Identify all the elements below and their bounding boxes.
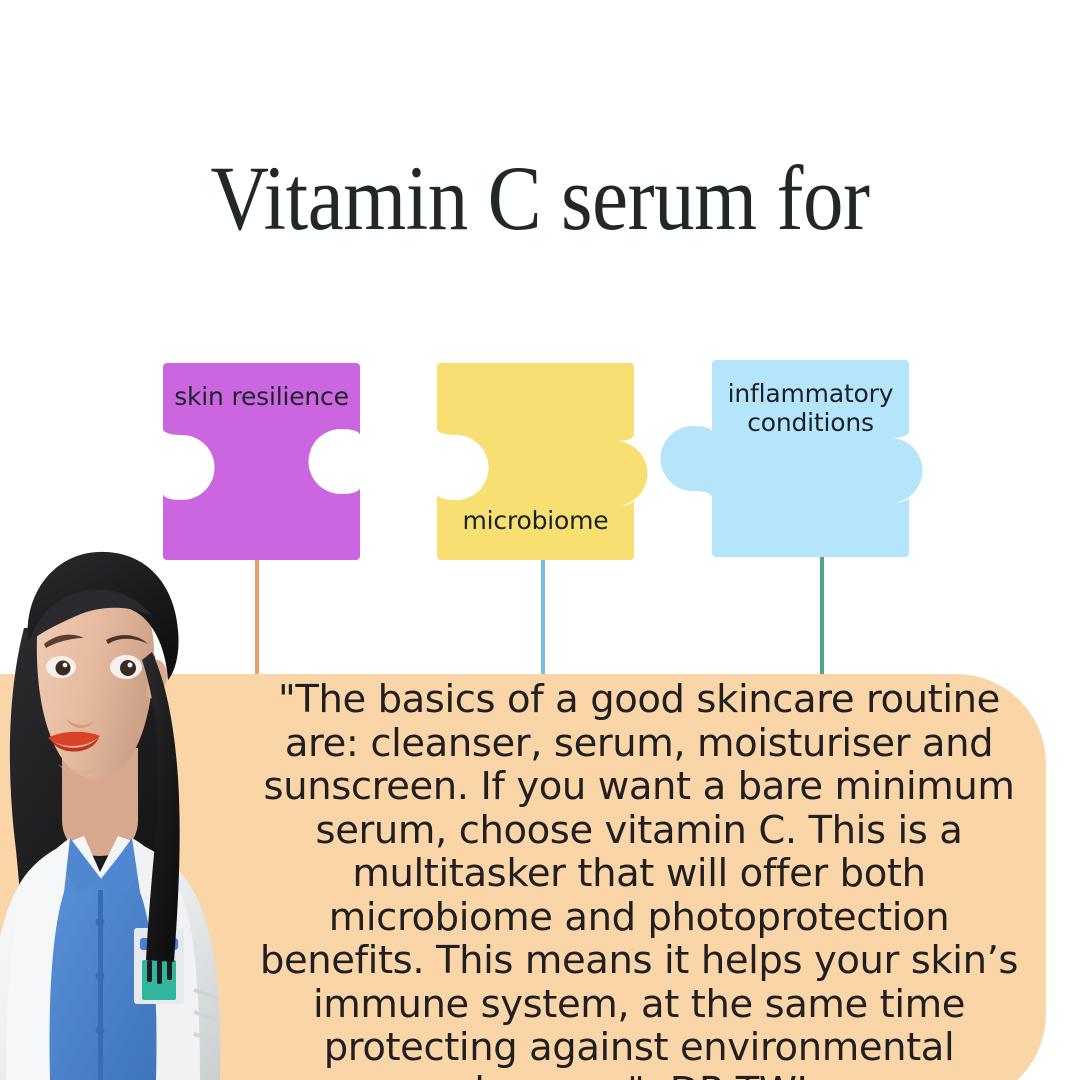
- page-title: Vitamin C serum for: [65, 150, 1015, 247]
- puzzle-piece-microbiome[interactable]: microbiome: [437, 363, 634, 560]
- shirt-button: [96, 972, 105, 981]
- connector-stem-microbiome: [541, 556, 545, 677]
- eye-highlight-left: [63, 663, 68, 668]
- puzzle-piece-shape-blue: [712, 360, 909, 557]
- pen: [167, 960, 172, 980]
- iris-right: [120, 660, 136, 676]
- puzzle-piece-shape-yellow: [437, 363, 634, 560]
- shirt-button: [96, 1026, 105, 1035]
- pen: [147, 960, 152, 982]
- puzzle-piece-inflammatory-conditions[interactable]: inflammatory conditions: [712, 360, 909, 557]
- shirt-button: [96, 918, 105, 927]
- quote-text: "The basics of a good skincare routine a…: [258, 678, 1020, 1080]
- pen: [157, 960, 162, 984]
- doctor-avatar-illustration: [0, 520, 266, 1080]
- iris-left: [56, 661, 71, 676]
- avatar-graphic: [0, 520, 266, 1080]
- infographic-canvas: Vitamin C serum for skin resilience micr…: [0, 0, 1080, 1080]
- eye-highlight-right: [128, 663, 133, 668]
- connector-stem-inflammatory-conditions: [820, 551, 824, 677]
